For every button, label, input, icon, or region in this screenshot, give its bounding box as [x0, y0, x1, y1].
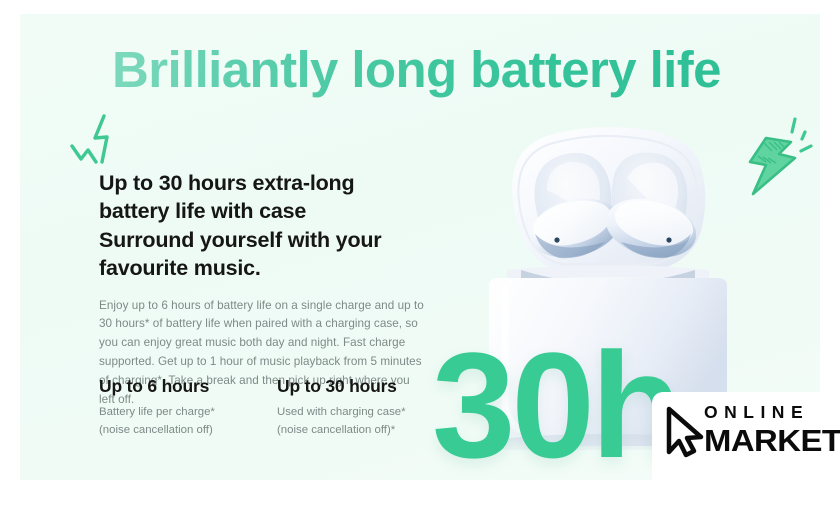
copy-block: Up to 30 hours extra-long battery life w… [99, 169, 429, 410]
stats-row: Up to 6 hours Battery life per charge* (… [99, 376, 425, 439]
page-title: Brilliantly long battery life [112, 41, 721, 100]
banner-page: Brilliantly long battery life [0, 0, 840, 507]
logo-wordmark: ONLINE MARKET [704, 404, 834, 456]
stat-caption-line-1: Used with charging case* [277, 404, 425, 422]
headline: Up to 30 hours extra-long battery life w… [99, 169, 429, 283]
stat-item: Up to 30 hours Used with charging case* … [277, 376, 425, 439]
stat-caption-line-2: (noise cancellation off)* [277, 422, 425, 440]
logo-top-word: ONLINE [704, 404, 834, 422]
stat-caption-line-1: Battery life per charge* [99, 404, 247, 422]
logo-bottom-word: MARKET [704, 425, 840, 456]
cursor-arrow-icon [664, 406, 706, 458]
stat-caption-line-2: (noise cancellation off) [99, 422, 247, 440]
stat-item: Up to 6 hours Battery life per charge* (… [99, 376, 247, 439]
stat-value: Up to 30 hours [277, 376, 425, 397]
battery-hours-watermark: 30h [432, 330, 678, 480]
stat-value: Up to 6 hours [99, 376, 247, 397]
brand-logo[interactable]: ONLINE MARKET [652, 392, 840, 494]
